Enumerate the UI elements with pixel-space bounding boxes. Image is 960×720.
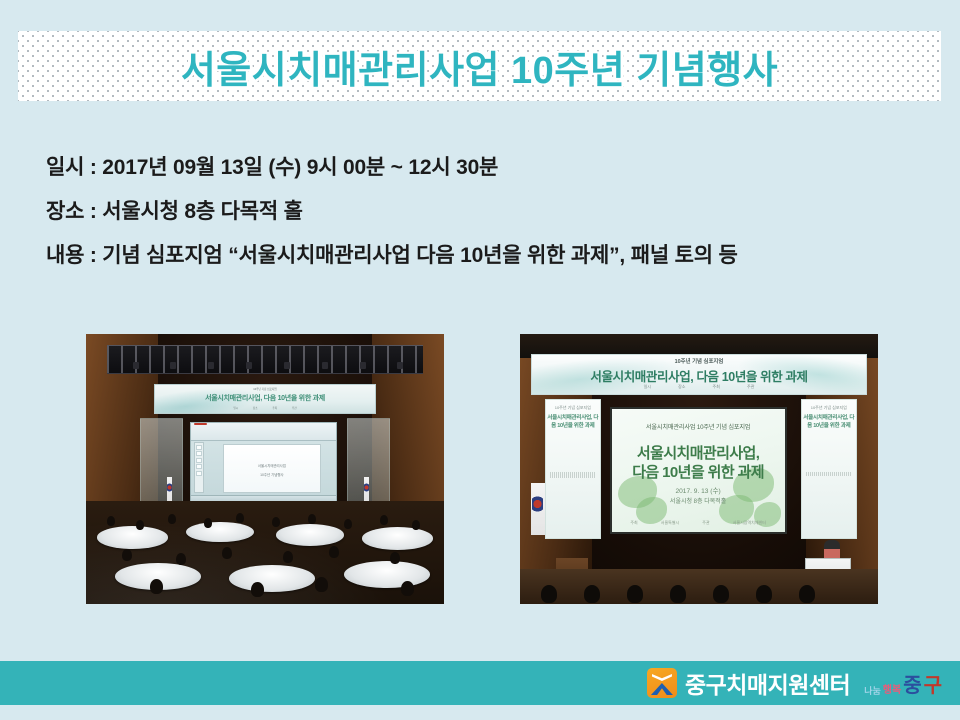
- junggu-calligraphy-logo: 나눔 행복 중 구: [864, 670, 942, 696]
- photo-auditorium-wide: 10주년 기념 심포지엄 서울시치매관리사업, 다음 10년을 위한 과제 일시…: [86, 334, 444, 604]
- vertical-banner-left: 10주년 기념 심포지엄 서울시치매관리사업, 다음 10년을 위한 과제: [545, 399, 600, 539]
- slide-line-2: 10주년 기념행사: [224, 472, 320, 477]
- stage-banner-footer: 일시 장소 주최 주관: [155, 406, 375, 410]
- gu-logo-part-1: 나눔: [864, 687, 881, 696]
- vertical-banner-info-list: [806, 472, 851, 476]
- detail-line-content: 내용 : 기념 심포지엄 “서울시치매관리사업 다음 10년을 위한 과제”, …: [46, 234, 916, 278]
- stage-banner-subtitle: 10주년 기념 심포지엄: [532, 357, 867, 365]
- stage-banner-title: 서울시치매관리사업, 다음 10년을 위한 과제: [532, 366, 867, 385]
- stage-front-edge: [520, 569, 878, 604]
- slide-organizer-logos: 주최 서울특별시 주관 서울시광역치매센터: [612, 520, 785, 526]
- gu-logo-part-4: 구: [924, 676, 942, 696]
- korean-flag: [531, 483, 545, 535]
- audience-area: [86, 501, 444, 604]
- slide-title-line-2: 다음 10년을 위한 과제: [612, 461, 785, 482]
- slide-line-1: 서울시치매관리사업: [224, 463, 320, 468]
- stage-banner-subtitle: 10주년 기념 심포지엄: [155, 387, 375, 391]
- detail-line-location: 장소 : 서울시청 8층 다목적 홀: [46, 190, 916, 234]
- slide-thumbnail-pane: [194, 442, 204, 493]
- vertical-banner-title: 서울시치매관리사업, 다음 10년을 위한 과제: [802, 415, 855, 430]
- slide-date: 2017. 9. 13 (수): [612, 485, 785, 495]
- stage-banner-footer: 일시 장소 주최 주관: [532, 384, 867, 390]
- vertical-banner-program-list: [550, 472, 595, 478]
- slide-place: 서울시청 8층 다목적홀: [612, 496, 785, 505]
- stage-side-panel-right: [347, 418, 390, 504]
- bird-shape-icon: [652, 674, 672, 681]
- photo-stage-closeup: 10주년 기념 심포지엄 서울시치매관리사업, 다음 10년을 위한 과제 일시…: [520, 334, 878, 604]
- slide-subtitle: 서울시치매관리사업 10주년 기념 심포지엄: [612, 422, 785, 431]
- vertical-banner-subtitle: 10주년 기념 심포지엄: [546, 405, 599, 411]
- slide-canvas: 서울시치매관리사업 10주년 기념행사: [223, 444, 321, 492]
- presentation-app-toolbar: [191, 423, 336, 442]
- person-shape-icon: [651, 682, 673, 695]
- stage-side-panel-left: [140, 418, 183, 504]
- title-banner: 서울시치매관리사업 10주년 기념행사: [18, 31, 941, 101]
- vertical-banner-title: 서울시치매관리사업, 다음 10년을 위한 과제: [546, 415, 599, 430]
- lighting-truss: [107, 345, 422, 374]
- page-title: 서울시치매관리사업 10주년 기념행사: [181, 39, 778, 94]
- projection-screen: 서울시치매관리사업 10주년 기념행사: [190, 422, 337, 504]
- center-logo-icon: [647, 668, 677, 698]
- event-details: 일시 : 2017년 09월 13일 (수) 9시 00분 ~ 12시 30분 …: [46, 146, 916, 278]
- gu-logo-part-3: 중: [903, 676, 921, 696]
- app-ribbon: [194, 426, 333, 427]
- vertical-banner-subtitle: 10주년 기념 심포지엄: [802, 405, 855, 411]
- gu-logo-part-2: 행복: [883, 686, 901, 696]
- footer-branding: 중구치매지원센터 나눔 행복 중 구: [647, 666, 960, 700]
- vertical-banner-right: 10주년 기념 심포지엄 서울시치매관리사업, 다음 10년을 위한 과제: [801, 399, 856, 539]
- center-name-label: 중구치매지원센터: [685, 666, 850, 700]
- stage-banner: 10주년 기념 심포지엄 서울시치매관리사업, 다음 10년을 위한 과제 일시…: [154, 384, 376, 414]
- stage-banner-title: 서울시치매관리사업, 다음 10년을 위한 과제: [155, 393, 375, 403]
- footer-bar: 중구치매지원센터 나눔 행복 중 구: [0, 661, 960, 705]
- projection-screen: 서울시치매관리사업 10주년 기념 심포지엄 서울시치매관리사업, 다음 10년…: [610, 407, 787, 534]
- detail-line-datetime: 일시 : 2017년 09월 13일 (수) 9시 00분 ~ 12시 30분: [46, 146, 916, 190]
- stage-banner: 10주년 기념 심포지엄 서울시치매관리사업, 다음 10년을 위한 과제 일시…: [531, 354, 868, 395]
